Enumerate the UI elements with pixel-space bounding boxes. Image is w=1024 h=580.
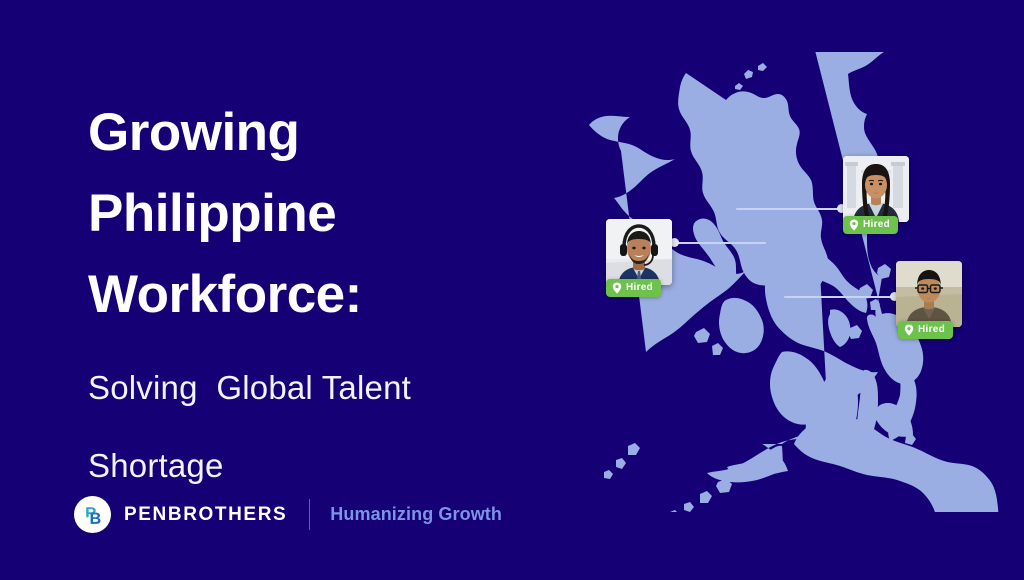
hired-label-north: Hired [863,219,890,231]
connector-line-east [784,296,894,298]
portrait-man-with-glasses [896,261,962,327]
penbrothers-logo-icon [74,496,111,533]
hired-label-east: Hired [918,324,945,336]
logo-divider [309,499,310,530]
hired-badge-west: Hired [606,279,661,297]
philippines-map-graphic: Hired [576,52,1024,512]
brand-lockup: PENBROTHERS Humanizing Growth [74,496,502,533]
hired-pin-card-west[interactable]: Hired [606,219,672,285]
hired-badge-east: Hired [898,321,953,339]
subheadline-line-1: Solving Global Talent [88,335,558,413]
headline-line-3: Workforce: [88,254,558,335]
location-pin-icon [612,282,622,294]
connector-line-north [736,208,841,210]
portrait-man-with-headset [606,219,672,285]
brand-name: PENBROTHERS [124,504,287,526]
headline-block: Growing Philippine Workforce: Solving Gl… [88,92,558,491]
hired-badge-north: Hired [843,216,898,234]
headline-line-2: Philippine [88,173,558,254]
connector-line-west [674,242,766,244]
subheadline-line-2: Shortage [88,413,558,491]
hired-label-west: Hired [626,282,653,294]
headline-line-1: Growing [88,92,558,173]
slide-canvas: Growing Philippine Workforce: Solving Gl… [0,0,1024,580]
hired-pin-card-east[interactable]: Hired [896,261,962,327]
brand-tagline: Humanizing Growth [330,504,502,525]
location-pin-icon [849,219,859,231]
hired-pin-card-north[interactable]: Hired [843,156,909,222]
location-pin-icon [904,324,914,336]
portrait-woman-in-blazer [843,156,909,222]
